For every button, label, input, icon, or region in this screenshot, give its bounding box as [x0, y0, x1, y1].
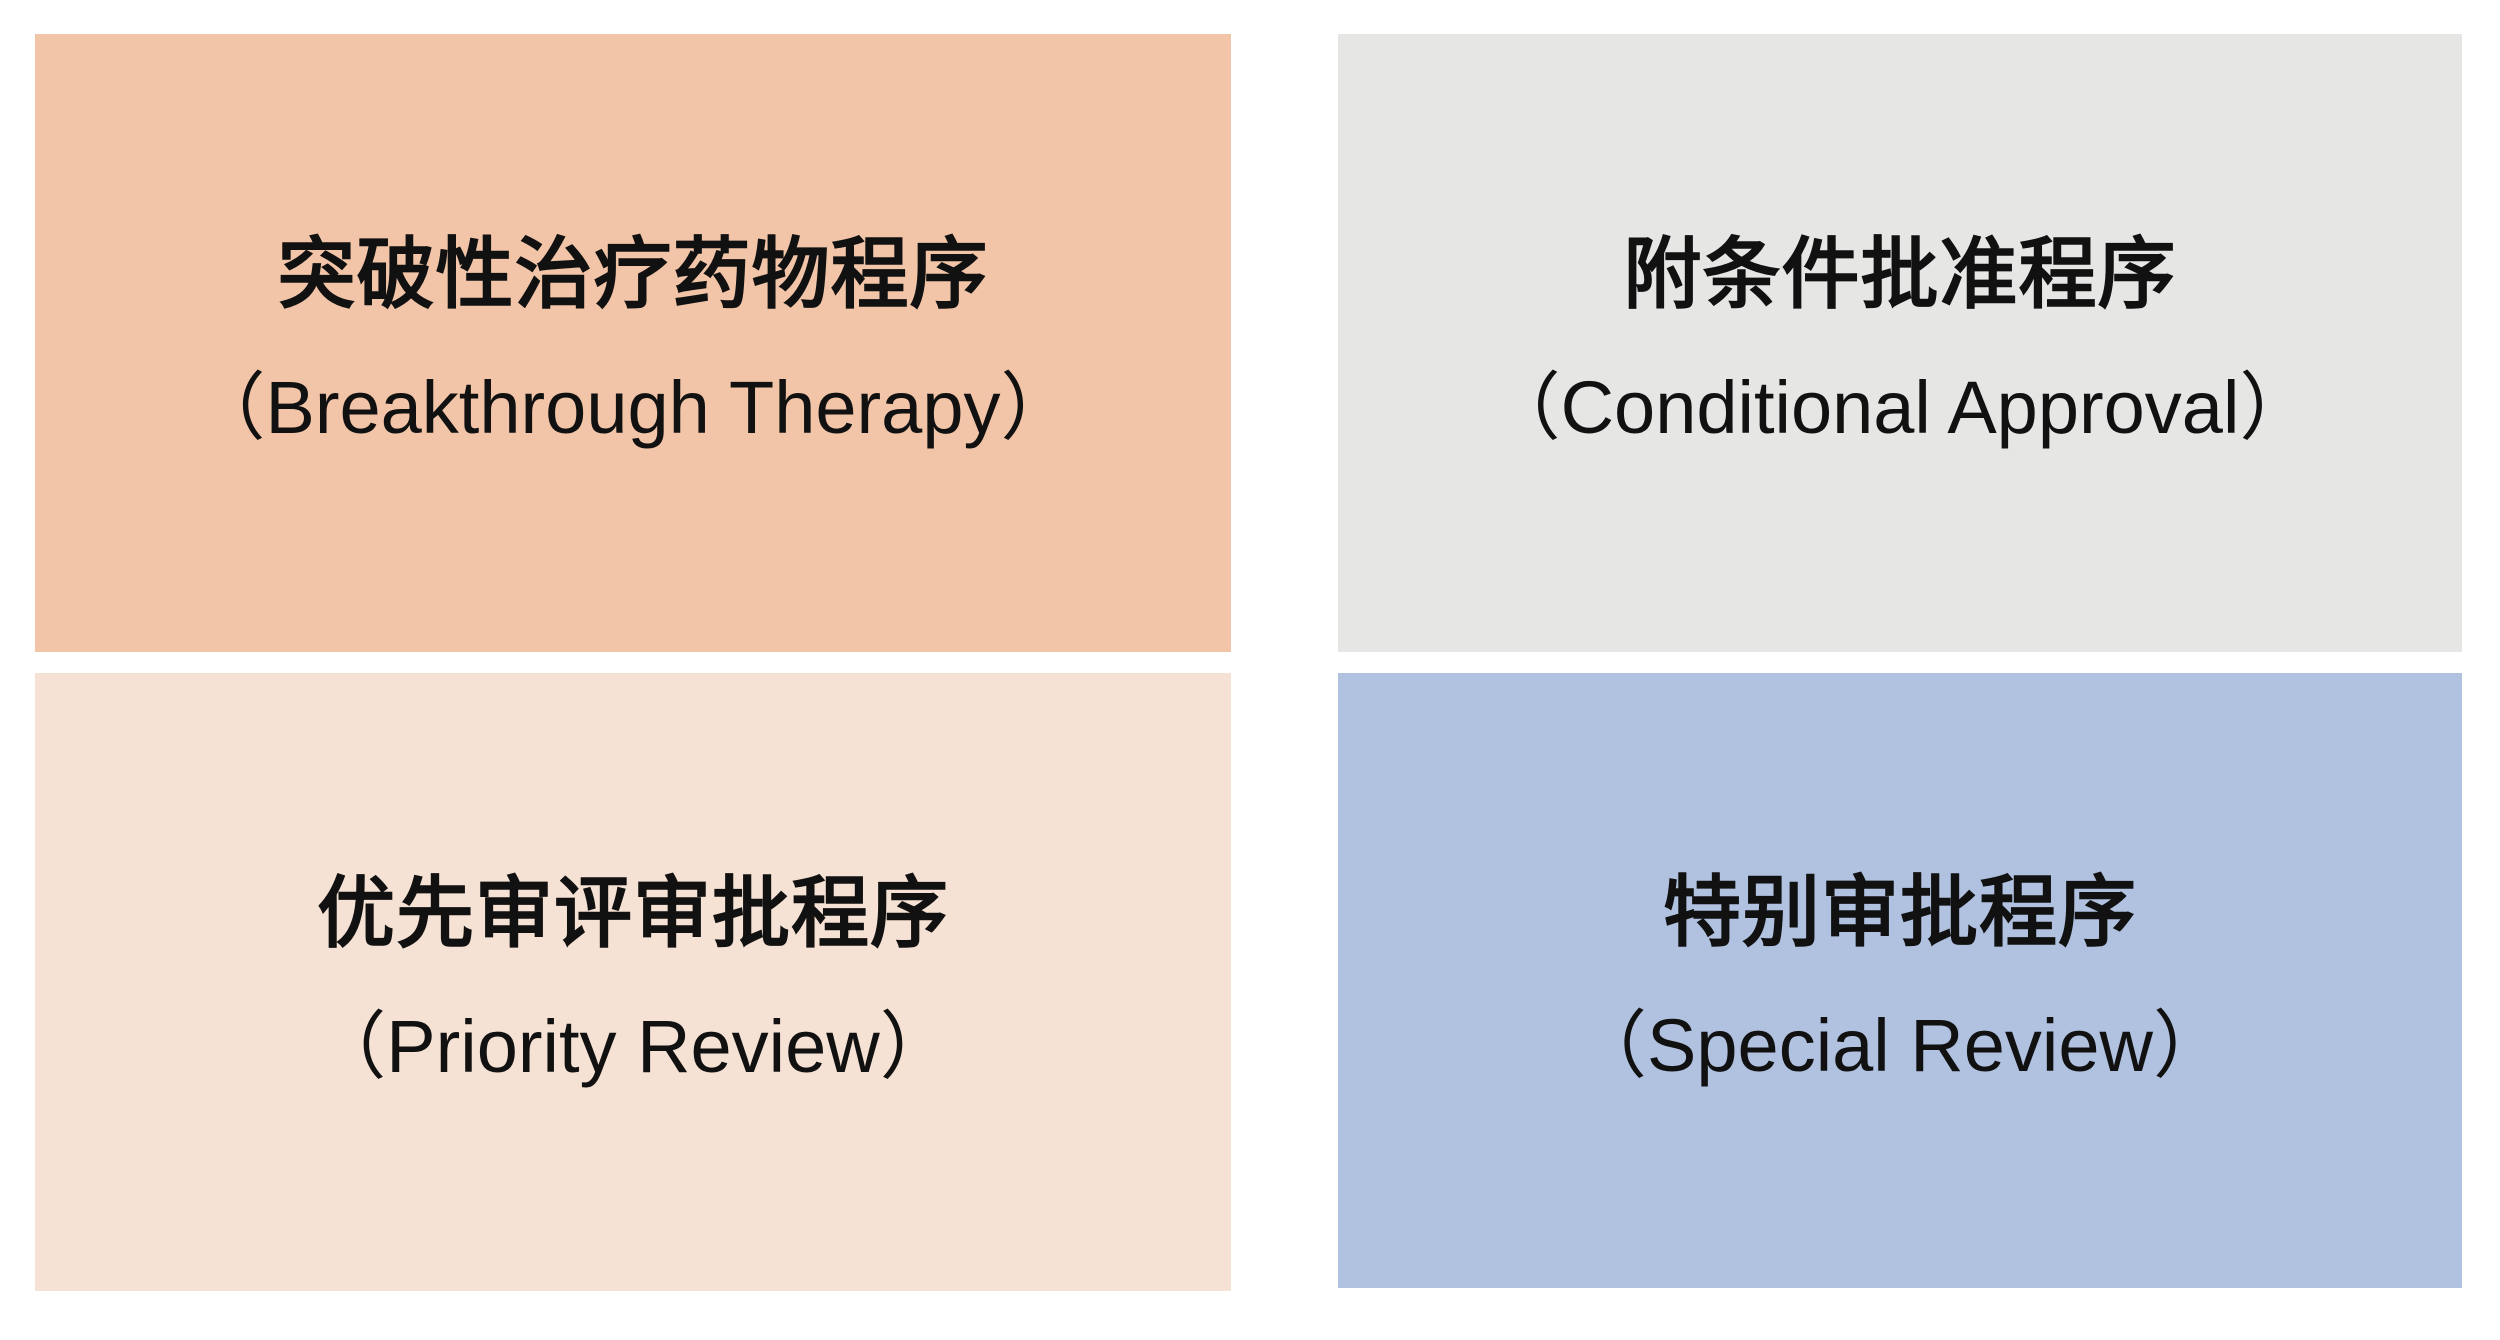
- panel-label-chinese: 优先审评审批程序: [317, 874, 949, 952]
- panel-label-english: （Breakthrough Therapy）: [192, 371, 1075, 445]
- panel-label-chinese: 突破性治疗药物程序: [277, 235, 988, 313]
- panel-breakthrough-therapy[interactable]: 突破性治疗药物程序 （Breakthrough Therapy）: [35, 34, 1231, 652]
- panel-conditional-approval[interactable]: 附条件批准程序 （Conditional Approval）: [1338, 34, 2462, 652]
- panel-label-english: （Priority Review）: [312, 1010, 953, 1084]
- panel-special-review[interactable]: 特别审批程序 （Special Review）: [1338, 673, 2462, 1288]
- panel-label-english: （Conditional Approval）: [1487, 371, 2314, 445]
- panel-label-chinese: 附条件批准程序: [1623, 235, 2176, 313]
- panel-priority-review[interactable]: 优先审评审批程序 （Priority Review）: [35, 673, 1231, 1291]
- panel-label-english: （Special Review）: [1573, 1009, 2227, 1083]
- panel-label-chinese: 特别审批程序: [1663, 873, 2137, 951]
- diagram-canvas: 突破性治疗药物程序 （Breakthrough Therapy） 附条件批准程序…: [0, 0, 2500, 1340]
